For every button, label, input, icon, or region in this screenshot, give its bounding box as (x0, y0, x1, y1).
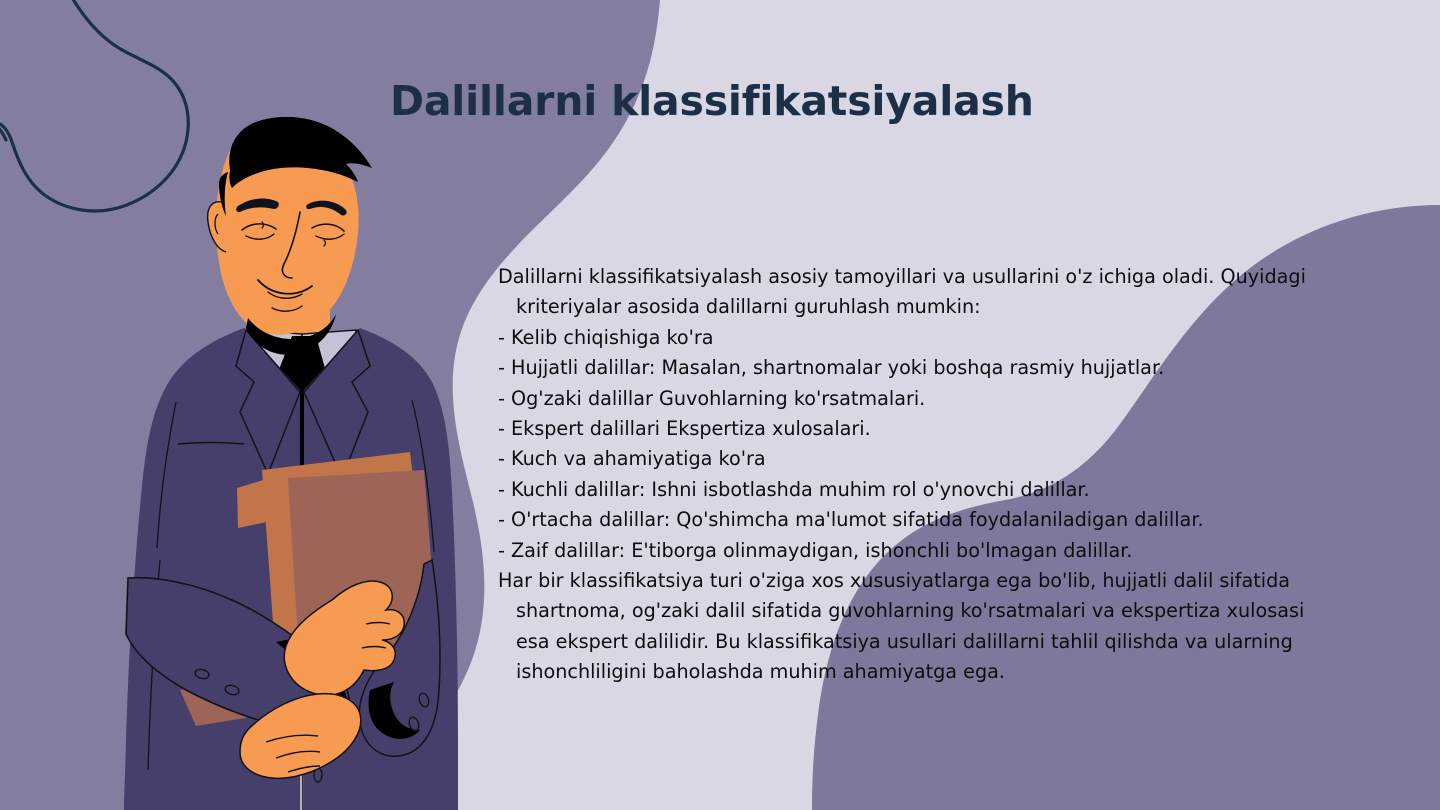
body-paragraph: - Zaif dalillar: E'tiborga olinmaydigan,… (498, 536, 1326, 566)
body-paragraph: - O'rtacha dalillar: Qo'shimcha ma'lumot… (498, 505, 1326, 535)
body-text-block: Dalillarni klassifikatsiyalash asosiy ta… (498, 262, 1326, 688)
body-paragraph: - Kuchli dalillar: Ishni isbotlashda muh… (498, 475, 1326, 505)
body-paragraph: Dalillarni klassifikatsiyalash asosiy ta… (498, 262, 1326, 323)
body-paragraph: - Kelib chiqishiga ko'ra (498, 323, 1326, 353)
slide-canvas: Dalillarni klassifikatsiyalash Dalillarn… (0, 0, 1440, 810)
body-paragraph: - Kuch va ahamiyatiga ko'ra (498, 444, 1326, 474)
body-paragraph: Har bir klassifikatsiya turi o'ziga xos … (498, 566, 1326, 688)
body-paragraph: - Og'zaki dalillar Guvohlarning ko'rsatm… (498, 384, 1326, 414)
page-title: Dalillarni klassifikatsiyalash (390, 78, 1290, 125)
body-paragraph: - Ekspert dalillari Ekspertiza xulosalar… (498, 414, 1326, 444)
body-paragraph: - Hujjatli dalillar: Masalan, shartnomal… (498, 353, 1326, 383)
